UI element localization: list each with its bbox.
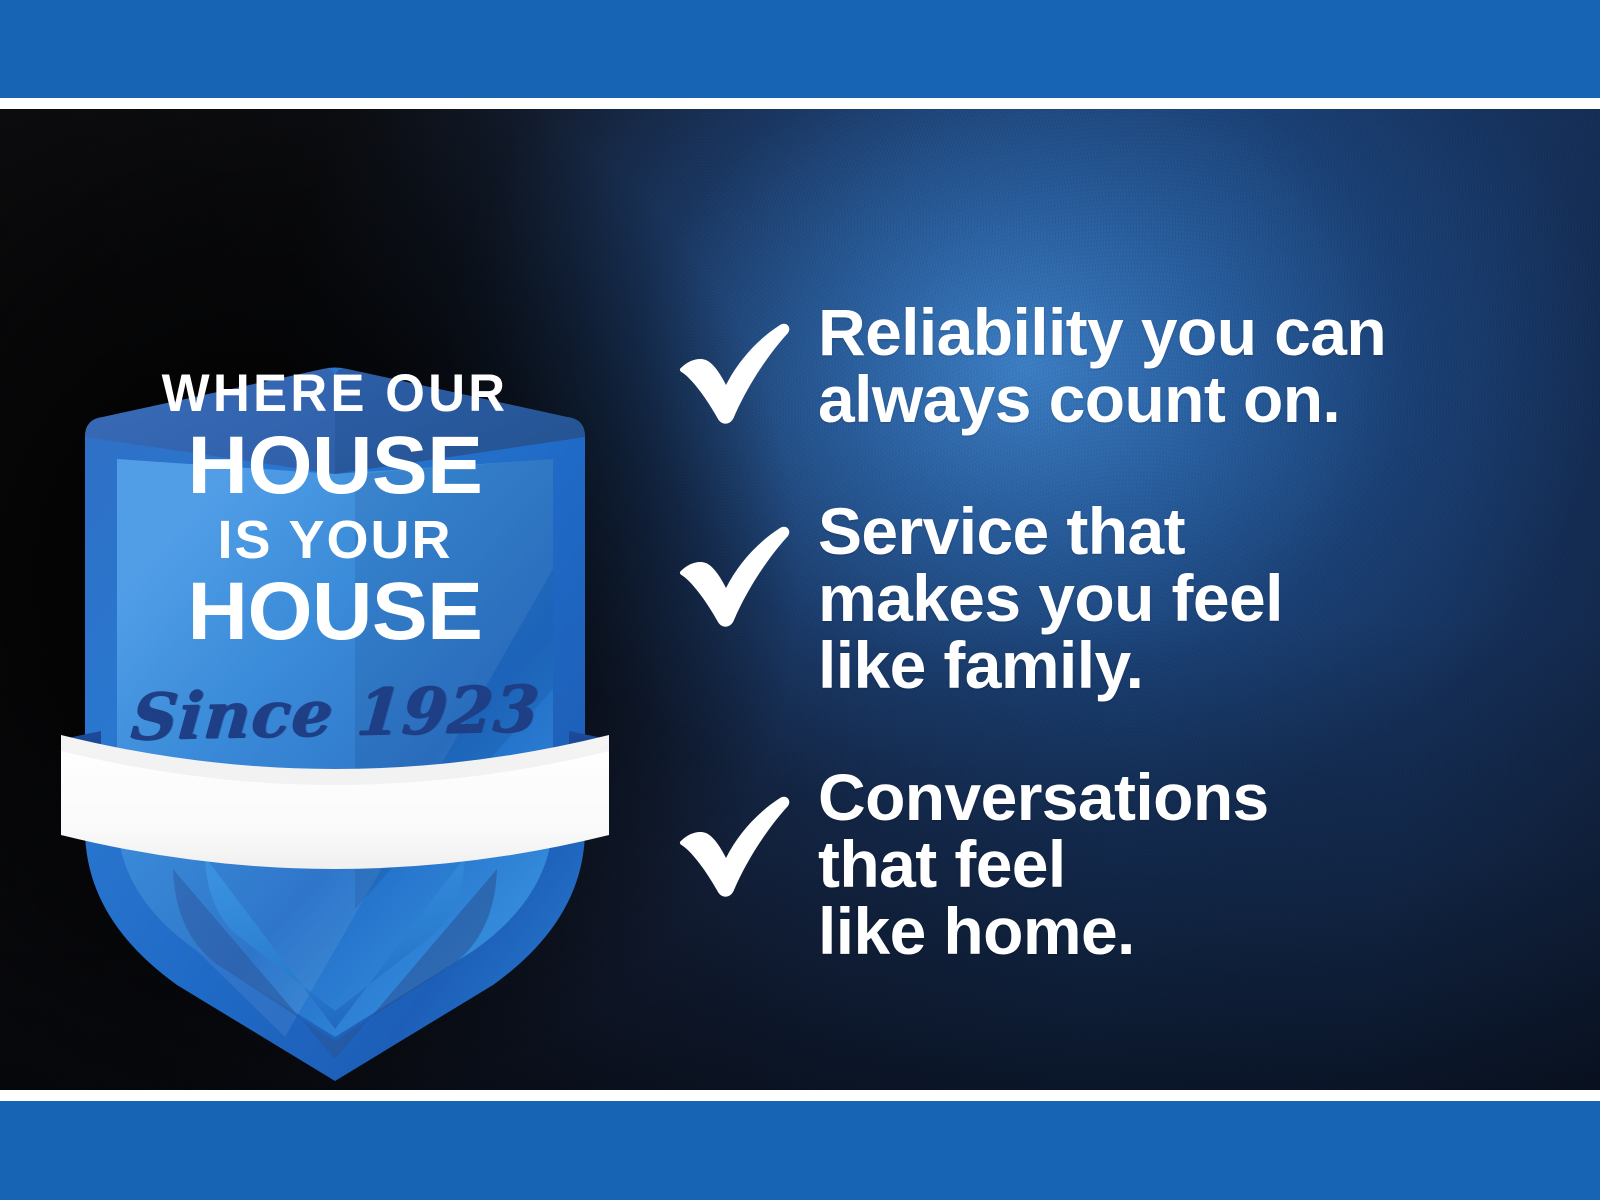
promo-graphic-canvas: WHERE OUR HOUSE IS YOUR HOUSE Since 1923… bbox=[0, 0, 1600, 1200]
shield-graphic bbox=[55, 269, 615, 909]
benefits-list: Reliability you can always count on. Ser… bbox=[668, 299, 1568, 966]
check-icon bbox=[668, 498, 818, 632]
top-white-rule bbox=[0, 98, 1600, 109]
main-stage: WHERE OUR HOUSE IS YOUR HOUSE Since 1923… bbox=[0, 109, 1600, 1090]
brand-badge: WHERE OUR HOUSE IS YOUR HOUSE Since 1923 bbox=[55, 269, 615, 909]
list-item: Conversations that feel like home. bbox=[668, 764, 1568, 966]
bottom-brand-bar bbox=[0, 1101, 1600, 1200]
list-item: Reliability you can always count on. bbox=[668, 299, 1568, 434]
check-icon bbox=[668, 299, 818, 429]
top-brand-bar bbox=[0, 0, 1600, 98]
list-item-label: Service that makes you feel like family. bbox=[818, 498, 1568, 700]
bottom-white-rule bbox=[0, 1090, 1600, 1101]
list-item-label: Conversations that feel like home. bbox=[818, 764, 1568, 966]
list-item-label: Reliability you can always count on. bbox=[818, 299, 1568, 434]
check-icon bbox=[668, 764, 818, 902]
list-item: Service that makes you feel like family. bbox=[668, 498, 1568, 700]
